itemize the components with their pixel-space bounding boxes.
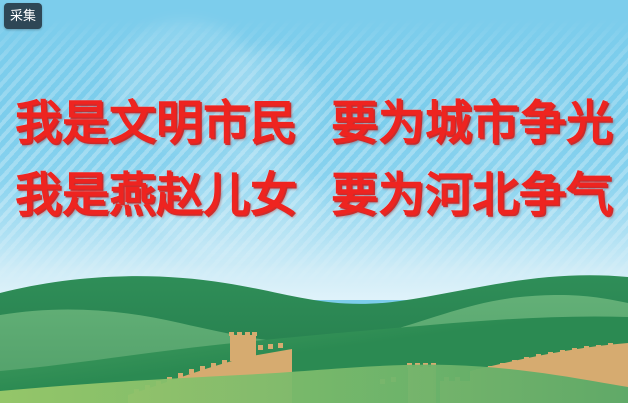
slogan-line-2: 我是燕赵儿女 要为河北争气 [0, 168, 628, 224]
slogan-line-1-left: 我是文明市民 [15, 96, 297, 152]
slogan-line-2-right: 要为河北争气 [331, 168, 613, 224]
landscape-illustration [0, 253, 628, 403]
slogan-line-1: 我是文明市民 要为城市争光 [0, 96, 628, 152]
slogan-line-2-left: 我是燕赵儿女 [15, 168, 297, 224]
capture-button[interactable]: 采集 [4, 3, 42, 29]
capture-button-label: 采集 [10, 10, 36, 23]
hills-svg [0, 253, 628, 403]
watchtower-left [229, 332, 257, 361]
slogan-block: 我是文明市民 要为城市争光 我是燕赵儿女 要为河北争气 [0, 96, 628, 224]
poster-image: 我是文明市民 要为城市争光 我是燕赵儿女 要为河北争气 [0, 0, 628, 403]
slogan-line-1-right: 要为城市争光 [331, 96, 613, 152]
